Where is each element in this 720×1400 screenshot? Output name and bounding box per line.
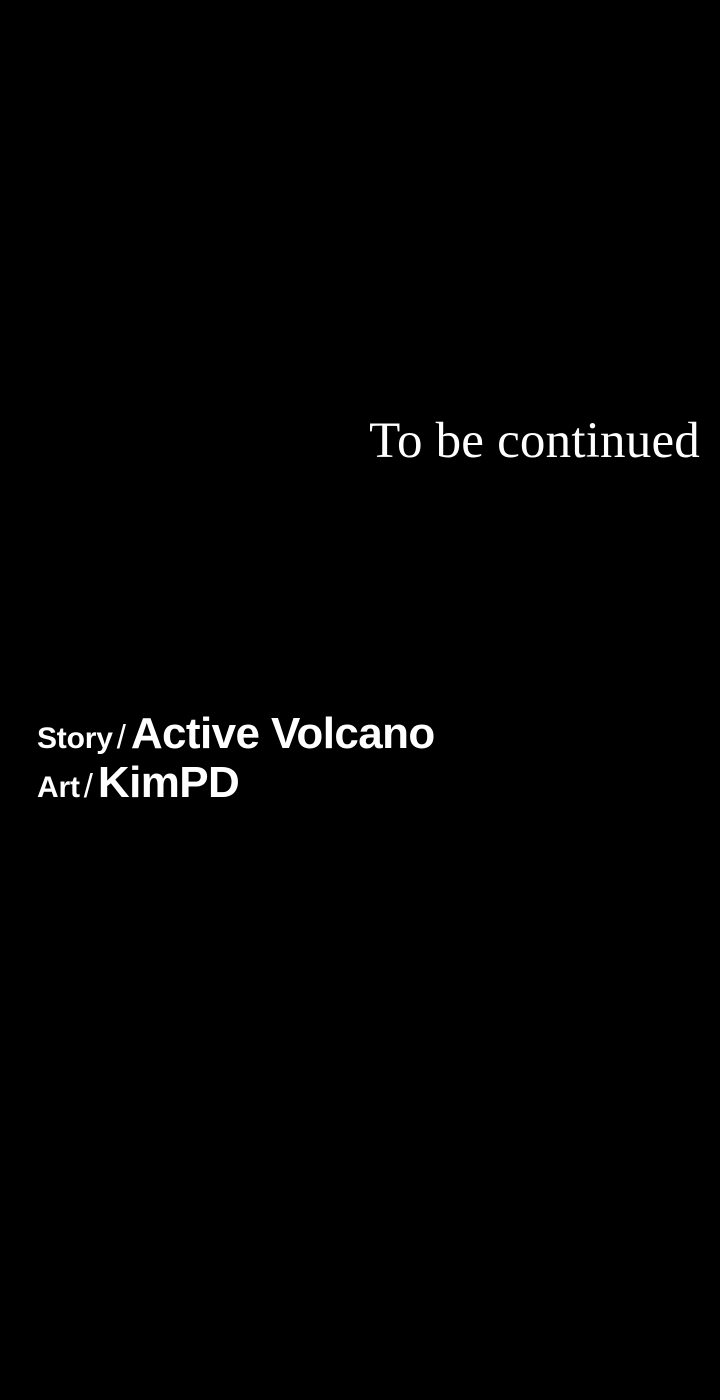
credit-separator-story: / xyxy=(113,715,131,758)
credit-name-art: KimPD xyxy=(98,761,239,804)
credit-name-story: Active Volcano xyxy=(131,712,435,755)
webtoon-end-panel: To be continued Story / Active Volcano A… xyxy=(0,0,720,1400)
credit-separator-art: / xyxy=(80,764,98,807)
credit-row-story: Story / Active Volcano xyxy=(37,712,435,760)
credits-block: Story / Active Volcano Art / KimPD xyxy=(37,712,435,809)
credit-row-art: Art / KimPD xyxy=(37,761,435,809)
credit-role-label-story: Story xyxy=(37,717,113,760)
credit-role-label-art: Art xyxy=(37,766,80,809)
to-be-continued-text: To be continued xyxy=(0,412,700,470)
